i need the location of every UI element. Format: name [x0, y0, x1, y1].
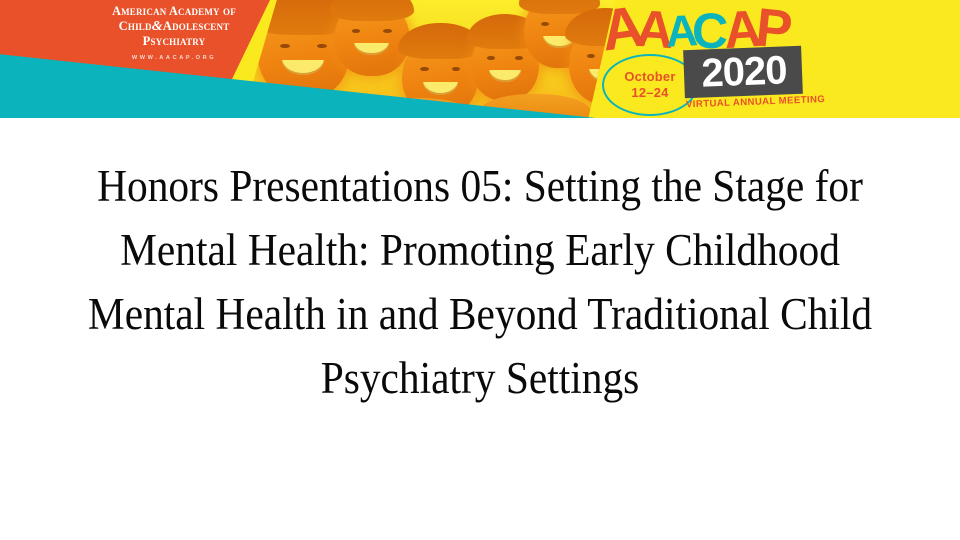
meeting-date-month: October — [624, 69, 675, 85]
child-eye-left-3 — [420, 67, 428, 71]
aacap-banner: American Academy of Child&Adolescent Psy… — [0, 0, 960, 118]
child-eye-right-4 — [515, 56, 523, 60]
child-eye-left-4 — [487, 56, 495, 60]
meeting-date-days: 12–24 — [631, 85, 668, 101]
child-eye-left-5 — [541, 22, 549, 26]
org-logo-line-2-post: Adolescent — [163, 19, 230, 33]
title-area: Honors Presentations 05: Setting the Sta… — [48, 154, 912, 410]
org-logo-line-2-pre: Child — [119, 19, 152, 33]
org-logo-line-2: Child&Adolescent — [106, 19, 242, 35]
child-face-2 — [334, 0, 410, 76]
slide-title: Honors Presentations 05: Setting the Sta… — [83, 154, 878, 410]
child-smile-2 — [354, 43, 389, 55]
aacap-2020-meeting-logo: A A A C A P October 12–24 2020 VIRTUAL A… — [600, 0, 810, 118]
child-smile-3 — [423, 82, 458, 95]
child-hair-2 — [329, 0, 414, 21]
child-eye-right-1 — [317, 44, 327, 49]
presentation-slide: American Academy of Child&Adolescent Psy… — [0, 0, 960, 540]
child-eye-right-3 — [452, 67, 460, 71]
org-logo-line-1: American Academy of — [106, 5, 242, 19]
ampersand-glyph: & — [152, 19, 163, 34]
meeting-year: 2020 — [687, 48, 801, 96]
child-eye-left-1 — [280, 44, 290, 49]
org-logo-url: WWW.AACAP.ORG — [106, 55, 242, 61]
child-eye-right-2 — [383, 29, 391, 33]
child-smile-4 — [489, 70, 520, 82]
org-logo-line-3: Psychiatry — [106, 34, 242, 48]
child-smile-1 — [282, 60, 324, 75]
aacap-organization-logo: American Academy of Child&Adolescent Psy… — [106, 5, 242, 62]
child-eye-left-6 — [587, 54, 595, 58]
child-eye-left-2 — [352, 29, 360, 33]
